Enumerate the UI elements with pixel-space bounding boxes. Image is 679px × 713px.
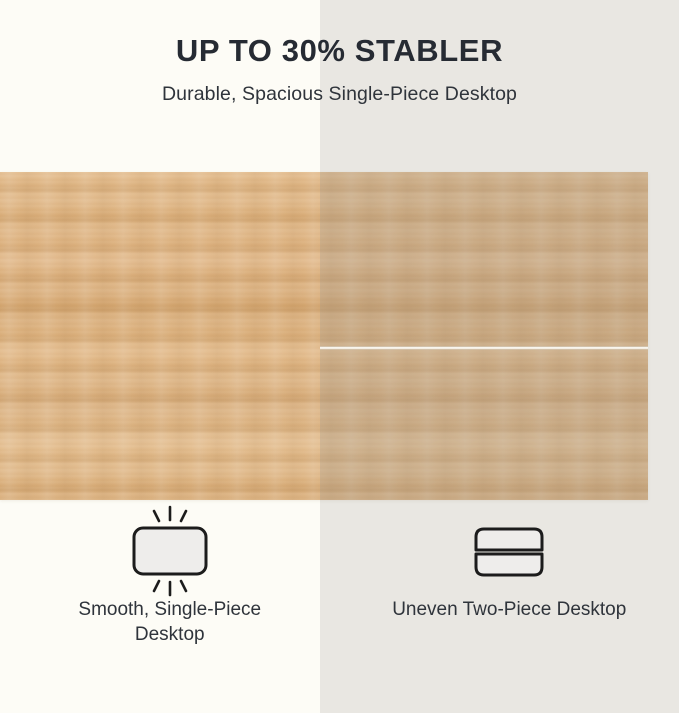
subtitle: Durable, Spacious Single-Piece Desktop [0, 68, 679, 106]
comparison-caption-right: Uneven Two-Piece Desktop [384, 597, 634, 622]
comparison-row: Smooth, Single-Piece Desktop Uneven Two-… [0, 505, 679, 685]
two-piece-desktop-icon [457, 505, 561, 597]
comparison-column-left: Smooth, Single-Piece Desktop [0, 505, 340, 685]
comparison-column-right: Uneven Two-Piece Desktop [340, 505, 679, 685]
comparison-caption-left: Smooth, Single-Piece Desktop [45, 597, 295, 648]
headline: UP TO 30% STABLER [0, 0, 679, 68]
infographic-canvas: UP TO 30% STABLER Durable, Spacious Sing… [0, 0, 679, 713]
two-piece-seam-line [320, 346, 648, 350]
right-half-desaturation-overlay [320, 172, 648, 500]
single-piece-desktop-icon [118, 505, 222, 597]
desktop-product-image [0, 172, 648, 500]
header: UP TO 30% STABLER Durable, Spacious Sing… [0, 0, 679, 106]
